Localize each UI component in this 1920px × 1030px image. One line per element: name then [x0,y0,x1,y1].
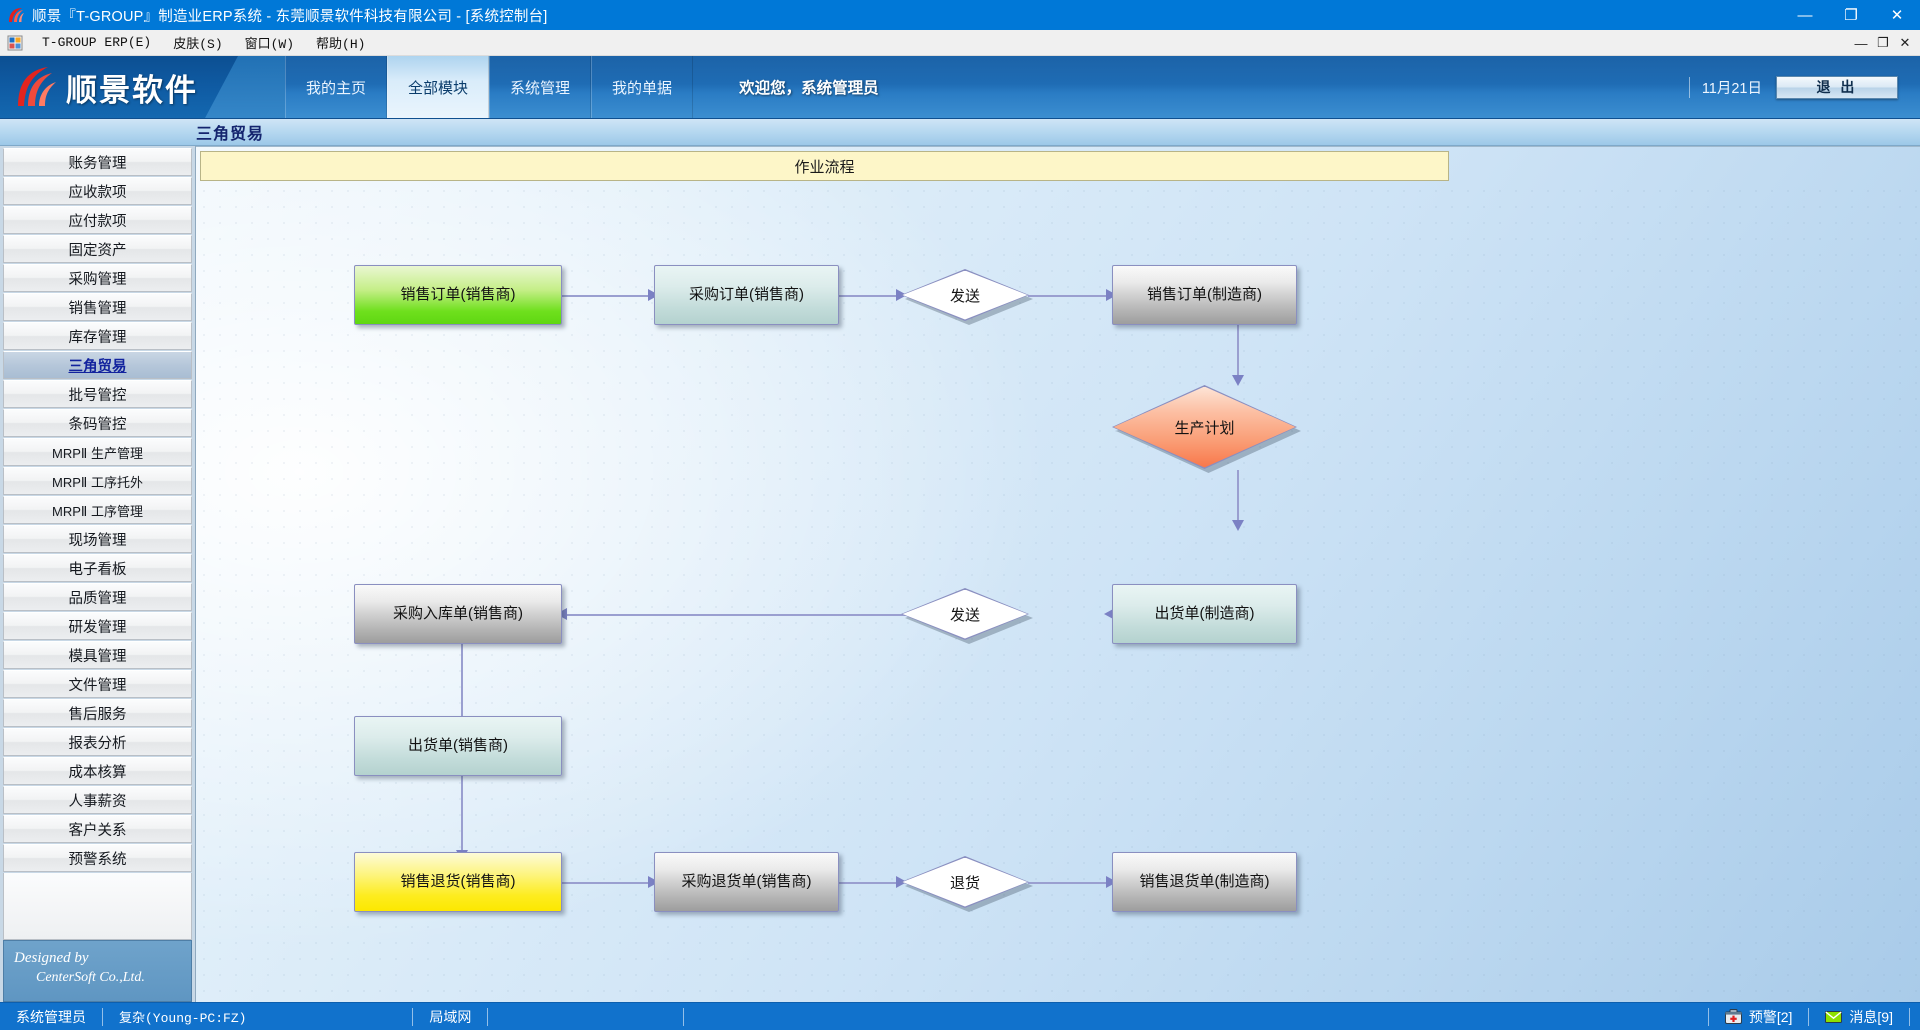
flow-diamond-send-1-label: 发送 [950,285,980,306]
sidebar-item-rnd[interactable]: 研发管理 [3,612,192,640]
mdi-close-button[interactable]: ✕ [1894,32,1916,54]
menu-item-skin[interactable]: 皮肤(S) [162,30,233,55]
edge-d4-n9 [1028,882,1112,884]
status-message-label: 消息[9] [1849,1007,1893,1027]
sidebar-item-triangular-trade[interactable]: 三角贸易 [3,351,192,379]
sidebar-item-payables[interactable]: 应付款项 [3,206,192,234]
welcome-message: 欢迎您，系统管理员 [693,56,903,118]
sidebar-item-barcode-control[interactable]: 条码管控 [3,409,192,437]
flow-node-purchase-receipt-distributor[interactable]: 采购入库单(销售商) [354,584,562,644]
edge-n5-n6 [461,644,463,726]
flow-diamond-return[interactable]: 退货 [901,856,1029,908]
window-titlebar: 顺景『T-GROUP』制造业ERP系统 - 东莞顺景软件科技有限公司 - [系统… [0,0,1920,30]
menu-item-help[interactable]: 帮助(H) [305,30,376,55]
edge-n1-n2 [562,295,654,297]
sidebar-item-after-sales[interactable]: 售后服务 [3,699,192,727]
nav-tab-my-docs[interactable]: 我的单据 [591,56,693,118]
sidebar-item-lot-control[interactable]: 批号管控 [3,380,192,408]
page-subtitle-bar: 三角贸易 [0,119,1920,146]
header-right: 11月21日 退 出 [1689,56,1920,118]
mdi-restore-button[interactable]: ❐ [1872,32,1894,54]
status-message[interactable]: 消息[9] [1809,1007,1909,1027]
edge-n2-d1 [839,295,901,297]
flow-node-shipment-manufacturer[interactable]: 出货单(制造商) [1112,584,1297,644]
envelope-icon [1825,1009,1842,1024]
maximize-button[interactable]: ❐ [1828,0,1874,30]
status-separator [487,1008,488,1026]
flow-diamond-return-label: 退货 [950,872,980,893]
status-host: 复杂(Young-PC:FZ) [103,1007,262,1027]
sidebar-item-hr-payroll[interactable]: 人事薪资 [3,786,192,814]
logout-button[interactable]: 退 出 [1776,76,1898,99]
flow-banner: 作业流程 [200,151,1449,181]
credit-line-2: CenterSoft Co.,Ltd. [36,970,191,986]
status-alert[interactable]: 预警[2] [1709,1007,1809,1027]
flow-diamond-production-plan[interactable]: 生产计划 [1112,385,1297,469]
flow-diamond-production-plan-label: 生产计划 [1174,417,1234,438]
brand-name: 顺景软件 [66,65,198,110]
sidebar-item-mrp2-production[interactable]: MRPⅡ 生产管理 [3,438,192,466]
minimize-button[interactable]: — [1782,0,1828,30]
main-nav: 我的主页 全部模块 系统管理 我的单据 [285,56,693,118]
flow-node-sales-return-distributor[interactable]: 销售退货(销售商) [354,852,562,912]
app-header: 顺景软件 我的主页 全部模块 系统管理 我的单据 欢迎您，系统管理员 11月21… [0,56,1920,119]
nav-tab-all-modules[interactable]: 全部模块 [387,56,489,118]
sidebar-item-mold[interactable]: 模具管理 [3,641,192,669]
sidebar-item-inventory[interactable]: 库存管理 [3,322,192,350]
sidebar-item-mrp2-outsourcing[interactable]: MRPⅡ 工序托外 [3,467,192,495]
credit-line-1: Designed by [14,950,191,967]
status-alert-label: 预警[2] [1749,1007,1793,1027]
flow-node-sales-return-manufacturer[interactable]: 销售退货单(制造商) [1112,852,1297,912]
workspace: 账务管理 应收款项 应付款项 固定资产 采购管理 销售管理 库存管理 三角贸易 … [0,146,1920,1002]
flow-diamond-send-2-label: 发送 [950,604,980,625]
current-date: 11月21日 [1689,77,1762,98]
mdi-minimize-button[interactable]: — [1850,32,1872,54]
brand-area: 顺景软件 [0,56,285,118]
edge-n6-n7 [461,776,463,858]
flow-node-shipment-distributor[interactable]: 出货单(销售商) [354,716,562,776]
sidebar-item-accounting[interactable]: 账务管理 [3,148,192,176]
page-title: 三角贸易 [196,120,264,144]
sidebar-item-shopfloor[interactable]: 现场管理 [3,525,192,553]
sidebar-item-documents[interactable]: 文件管理 [3,670,192,698]
sidebar-item-fixed-assets[interactable]: 固定资产 [3,235,192,263]
menu-item-window[interactable]: 窗口(W) [234,30,305,55]
status-user: 系统管理员 [0,1007,102,1027]
window-title: 顺景『T-GROUP』制造业ERP系统 - 东莞顺景软件科技有限公司 - [系统… [32,5,548,26]
sidebar-credit: Designed by CenterSoft Co.,Ltd. [3,940,192,1002]
mdi-window-controls: — ❐ ✕ [1850,30,1916,56]
sidebar-item-cost-accounting[interactable]: 成本核算 [3,757,192,785]
arrowhead-d2-n4 [1232,520,1244,531]
first-aid-kit-icon [1725,1009,1742,1024]
edge-n7-n8 [562,882,654,884]
flow-node-purchase-return-distributor[interactable]: 采购退货单(销售商) [654,852,839,912]
sidebar-item-e-kanban[interactable]: 电子看板 [3,554,192,582]
status-right: 预警[2] 消息[9] [1708,1007,1920,1027]
sidebar-item-mrp2-process[interactable]: MRPⅡ 工序管理 [3,496,192,524]
nav-tab-system[interactable]: 系统管理 [489,56,591,118]
window-controls: — ❐ ✕ [1782,0,1920,30]
edge-n8-d4 [839,882,901,884]
sidebar-item-quality[interactable]: 品质管理 [3,583,192,611]
close-button[interactable]: ✕ [1874,0,1920,30]
company-logo-icon [14,65,60,109]
sidebar-item-purchasing[interactable]: 采购管理 [3,264,192,292]
sidebar-item-reports[interactable]: 报表分析 [3,728,192,756]
status-network: 局域网 [413,1007,487,1027]
sidebar-item-sales[interactable]: 销售管理 [3,293,192,321]
mdi-app-icon [7,35,23,51]
sidebar-item-crm[interactable]: 客户关系 [3,815,192,843]
status-bar: 系统管理员 复杂(Young-PC:FZ) 局域网 预警[2] [0,1002,1920,1030]
app-logo-icon [6,5,26,25]
flow-node-sales-order-manufacturer[interactable]: 销售订单(制造商) [1112,265,1297,325]
status-separator [1909,1008,1910,1026]
sidebar-item-alert-system[interactable]: 预警系统 [3,844,192,872]
flow-diamond-send-1[interactable]: 发送 [901,269,1029,321]
edge-d1-n3 [1028,295,1112,297]
flowchart-canvas: 作业流程 销售订单(销售商) 采购订单(销售商) [196,146,1920,1002]
sidebar-item-receivables[interactable]: 应收款项 [3,177,192,205]
status-separator [683,1008,684,1026]
sidebar-filler [3,873,192,940]
menu-item-erp[interactable]: T-GROUP ERP(E) [31,32,162,53]
nav-tab-home[interactable]: 我的主页 [285,56,387,118]
menu-bar: T-GROUP ERP(E) 皮肤(S) 窗口(W) 帮助(H) — ❐ ✕ [0,30,1920,56]
flow-diamond-send-2[interactable]: 发送 [901,588,1029,640]
flow-node-purchase-order-distributor[interactable]: 采购订单(销售商) [654,265,839,325]
module-sidebar: 账务管理 应收款项 应付款项 固定资产 采购管理 销售管理 库存管理 三角贸易 … [0,146,196,1002]
flow-node-sales-order-distributor[interactable]: 销售订单(销售商) [354,265,562,325]
